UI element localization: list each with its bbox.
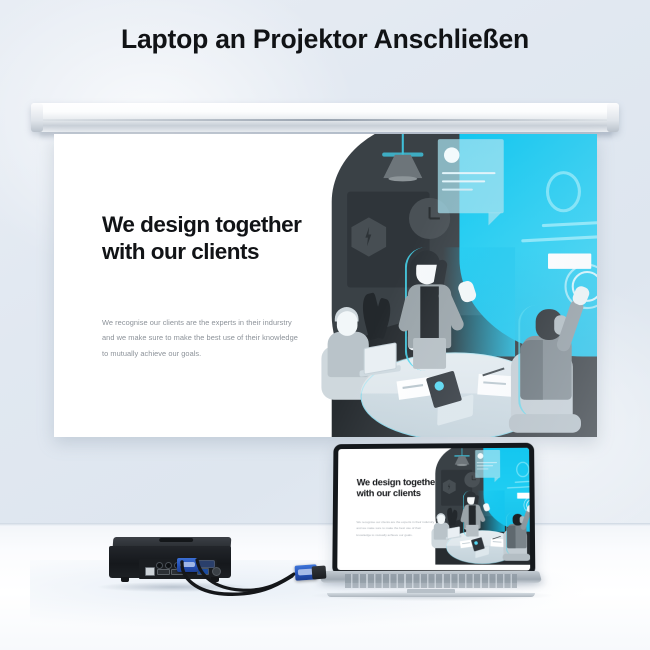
- screen-ring-graphic: [546, 171, 581, 212]
- woman-skirt: [413, 338, 446, 369]
- slide-heading: We design together with our clients: [102, 211, 302, 265]
- roller-seam: [39, 119, 611, 121]
- vga-connector-shell: [312, 566, 327, 580]
- roller-end-cap-right: [607, 103, 619, 132]
- laptop-slide-illustration: [426, 448, 530, 571]
- man-chair-seat: [509, 414, 581, 433]
- avatar: [444, 147, 459, 162]
- slide-illustration: [307, 134, 597, 437]
- rj45-ethernet-port[interactable]: [145, 567, 155, 576]
- laptop-keyboard-row[interactable]: [345, 583, 517, 588]
- lamp-glow: [388, 176, 417, 181]
- paper-sheet: [477, 374, 513, 397]
- usb-port[interactable]: [197, 568, 209, 575]
- projector[interactable]: [107, 537, 233, 590]
- laptop-lid: We design together with our clients We r…: [332, 443, 535, 576]
- vga-port[interactable]: [197, 560, 215, 568]
- vga-connector-projector-end[interactable]: [177, 558, 198, 572]
- laptop[interactable]: We design together with our clients We r…: [323, 443, 539, 593]
- page-title: Laptop an Projektor Anschließen: [0, 24, 650, 55]
- control-knob[interactable]: [212, 567, 221, 576]
- screen-roller-housing: [31, 103, 619, 132]
- audio-jack[interactable]: [165, 562, 172, 569]
- scene-root: Laptop an Projektor Anschließen We desig…: [0, 0, 650, 650]
- projector-body: [109, 546, 231, 578]
- projector-foot: [121, 577, 129, 582]
- seated-person-head: [337, 311, 358, 336]
- roller-end-cap-left: [31, 103, 43, 132]
- laptop-slide-body: We recognise our clients are the experts…: [356, 519, 436, 538]
- slide-body-text: We recognise our clients are the experts…: [102, 315, 298, 361]
- laptop-keyboard[interactable]: [345, 574, 517, 583]
- hdmi-port[interactable]: [157, 569, 170, 575]
- woman-shirt: [420, 286, 439, 340]
- man-body-shade: [520, 340, 543, 400]
- laptop-front-edge: [327, 593, 535, 597]
- laptop-screen: We design together with our clients We r…: [337, 448, 530, 571]
- projector-foot: [211, 577, 219, 582]
- audio-jack[interactable]: [156, 562, 163, 569]
- projection-screen: We design together with our clients We r…: [54, 134, 597, 437]
- projector-vent: [159, 538, 193, 542]
